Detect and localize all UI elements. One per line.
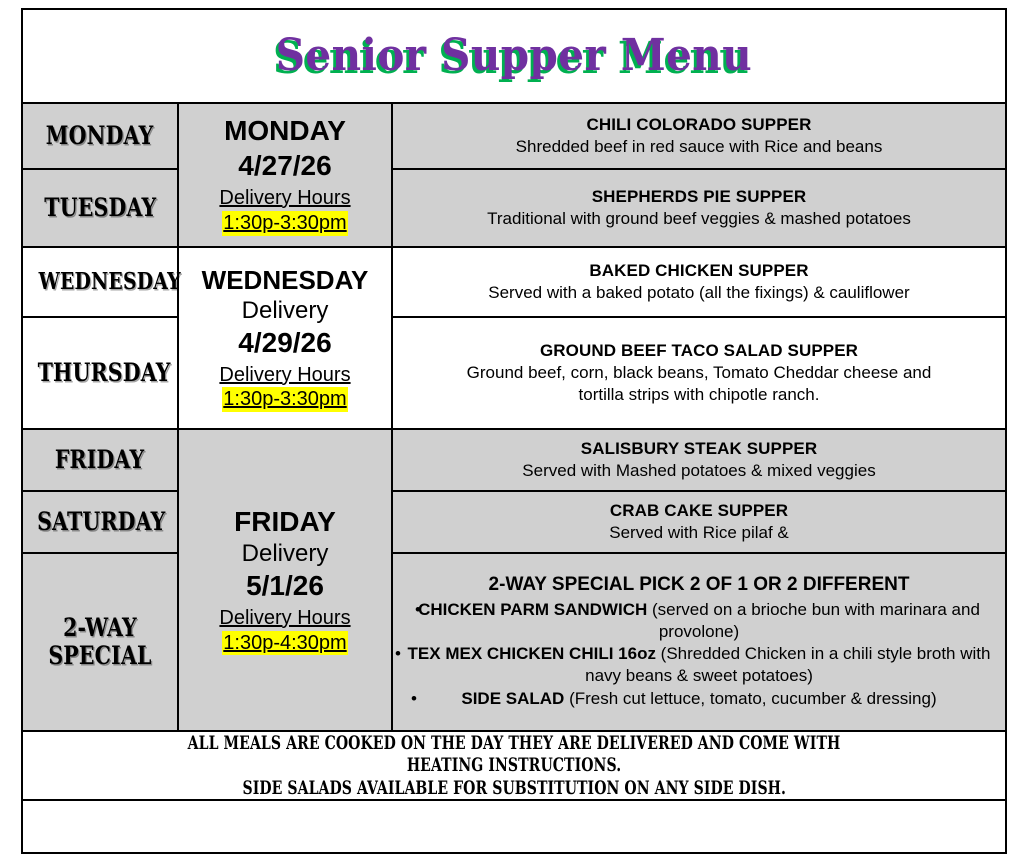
delivery-hours-value-monday: 1:30p-3:30pm — [222, 211, 347, 236]
meal-description-line1: Ground beef, corn, black beans, Tomato C… — [393, 362, 1005, 384]
delivery-day-monday: MONDAY — [179, 114, 391, 149]
delivery-date-wednesday: 4/29/26 — [179, 326, 391, 361]
delivery-day-friday: FRIDAY — [179, 505, 391, 540]
title-row: Senior Supper Menu — [22, 9, 1006, 103]
banner-text: DOUBLE UP ON YOUR VEGGIES TO PERSONALIZE… — [23, 801, 1005, 852]
meal-description: Served with a baked potato (all the fixi… — [393, 282, 1005, 304]
delivery-block-wednesday: WEDNESDAY Delivery 4/29/26 Delivery Hour… — [178, 247, 392, 429]
delivery-hours-label-wednesday: Delivery Hours — [179, 363, 391, 388]
table-row-thursday: THURSDAY GROUND BEEF TACO SALAD SUPPER G… — [22, 317, 1006, 429]
table-row-notes: ALL MEALS ARE COOKED ON THE DAY THEY ARE… — [22, 731, 1006, 800]
special-item-detail: (Fresh cut lettuce, tomato, cucumber & d… — [564, 689, 936, 708]
meal-description-line2: tortilla strips with chipotle ranch. — [393, 384, 1005, 406]
bullet-icon: • — [411, 688, 417, 710]
special-item-name: TEX MEX CHICKEN CHILI 16oz — [408, 644, 656, 663]
special-item-detail: (served on a brioche bun with marinara a… — [647, 600, 980, 641]
note-line-1: ALL MEALS ARE COOKED ON THE DAY THEY ARE… — [23, 732, 1005, 777]
delivery-date-friday: 5/1/26 — [179, 569, 391, 604]
day-label-saturday: SATURDAY — [22, 491, 178, 553]
meal-cell-two-way-special: 2-WAY SPECIAL PICK 2 OF 1 OR 2 DIFFERENT… — [392, 553, 1006, 731]
meal-description: Served with Rice pilaf & — [393, 522, 1005, 544]
delivery-hours-value-wednesday: 1:30p-3:30pm — [222, 387, 347, 412]
special-item-name: CHICKEN PARM SANDWICH — [418, 600, 647, 619]
table-row-two-way-special: 2-WAY SPECIAL 2-WAY SPECIAL PICK 2 OF 1 … — [22, 553, 1006, 731]
delivery-hours-label-monday: Delivery Hours — [179, 186, 391, 211]
bullet-icon: • — [415, 599, 421, 621]
table-row-wednesday: WEDNESDAY WEDNESDAY Delivery 4/29/26 Del… — [22, 247, 1006, 317]
special-item-name: SIDE SALAD — [461, 689, 564, 708]
meal-cell-tuesday: SHEPHERDS PIE SUPPER Traditional with gr… — [392, 169, 1006, 247]
meal-title: BAKED CHICKEN SUPPER — [393, 260, 1005, 282]
meal-title: CRAB CAKE SUPPER — [393, 500, 1005, 522]
meal-description: Shredded beef in red sauce with Rice and… — [393, 136, 1005, 158]
meal-title: SALISBURY STEAK SUPPER — [393, 438, 1005, 460]
day-label-monday: MONDAY — [22, 103, 178, 169]
delivery-day-wednesday: WEDNESDAY — [179, 264, 391, 296]
delivery-hours-value-friday: 1:30p-4:30pm — [222, 631, 347, 656]
day-label-wednesday: WEDNESDAY — [22, 247, 178, 317]
delivery-hours-label-friday: Delivery Hours — [179, 606, 391, 631]
delivery-date-monday: 4/27/26 — [179, 149, 391, 184]
table-row-friday: FRIDAY FRIDAY Delivery 5/1/26 Delivery H… — [22, 429, 1006, 491]
notes-cell: ALL MEALS ARE COOKED ON THE DAY THEY ARE… — [22, 731, 1006, 800]
banner-cell: DOUBLE UP ON YOUR VEGGIES TO PERSONALIZE… — [22, 800, 1006, 853]
page-title: Senior Supper Menu — [276, 34, 752, 78]
delivery-block-friday: FRIDAY Delivery 5/1/26 Delivery Hours 1:… — [178, 429, 392, 731]
table-row-monday: MONDAY MONDAY 4/27/26 Delivery Hours 1:3… — [22, 103, 1006, 169]
meal-title: SHEPHERDS PIE SUPPER — [393, 186, 1005, 208]
title-cell: Senior Supper Menu — [22, 9, 1006, 103]
meal-title: CHILI COLORADO SUPPER — [393, 114, 1005, 136]
special-items-list: •CHICKEN PARM SANDWICH (served on a brio… — [393, 599, 1005, 710]
meal-description: Traditional with ground beef veggies & m… — [393, 208, 1005, 230]
table-row-banner: DOUBLE UP ON YOUR VEGGIES TO PERSONALIZE… — [22, 800, 1006, 853]
meal-cell-thursday: GROUND BEEF TACO SALAD SUPPER Ground bee… — [392, 317, 1006, 429]
list-item: •TEX MEX CHICKEN CHILI 16oz (Shredded Ch… — [393, 643, 1005, 687]
note-line-2: SIDE SALADS AVAILABLE FOR SUBSTITUTION O… — [23, 777, 1005, 799]
list-item: •CHICKEN PARM SANDWICH (served on a brio… — [393, 599, 1005, 643]
senior-supper-menu-table: Senior Supper Menu MONDAY MONDAY 4/27/26… — [21, 8, 1007, 854]
day-label-tuesday: TUESDAY — [22, 169, 178, 247]
meal-cell-monday: CHILI COLORADO SUPPER Shredded beef in r… — [392, 103, 1006, 169]
meal-cell-friday: SALISBURY STEAK SUPPER Served with Mashe… — [392, 429, 1006, 491]
table-row-tuesday: TUESDAY SHEPHERDS PIE SUPPER Traditional… — [22, 169, 1006, 247]
meal-title: GROUND BEEF TACO SALAD SUPPER — [393, 340, 1005, 362]
delivery-word-wednesday: Delivery — [179, 296, 391, 326]
delivery-block-monday: MONDAY 4/27/26 Delivery Hours 1:30p-3:30… — [178, 103, 392, 247]
bullet-icon: • — [395, 643, 401, 665]
menu-page: Senior Supper Menu MONDAY MONDAY 4/27/26… — [0, 0, 1024, 850]
meal-description: Served with Mashed potatoes & mixed vegg… — [393, 460, 1005, 482]
day-label-thursday: THURSDAY — [22, 317, 178, 429]
special-heading: 2-WAY SPECIAL PICK 2 OF 1 OR 2 DIFFERENT — [393, 573, 1005, 597]
delivery-word-friday: Delivery — [179, 539, 391, 569]
meal-cell-saturday: CRAB CAKE SUPPER Served with Rice pilaf … — [392, 491, 1006, 553]
table-row-saturday: SATURDAY CRAB CAKE SUPPER Served with Ri… — [22, 491, 1006, 553]
list-item: •SIDE SALAD (Fresh cut lettuce, tomato, … — [393, 688, 1005, 710]
meal-cell-wednesday: BAKED CHICKEN SUPPER Served with a baked… — [392, 247, 1006, 317]
day-label-friday: FRIDAY — [22, 429, 178, 491]
day-label-two-way-special: 2-WAY SPECIAL — [22, 553, 178, 731]
